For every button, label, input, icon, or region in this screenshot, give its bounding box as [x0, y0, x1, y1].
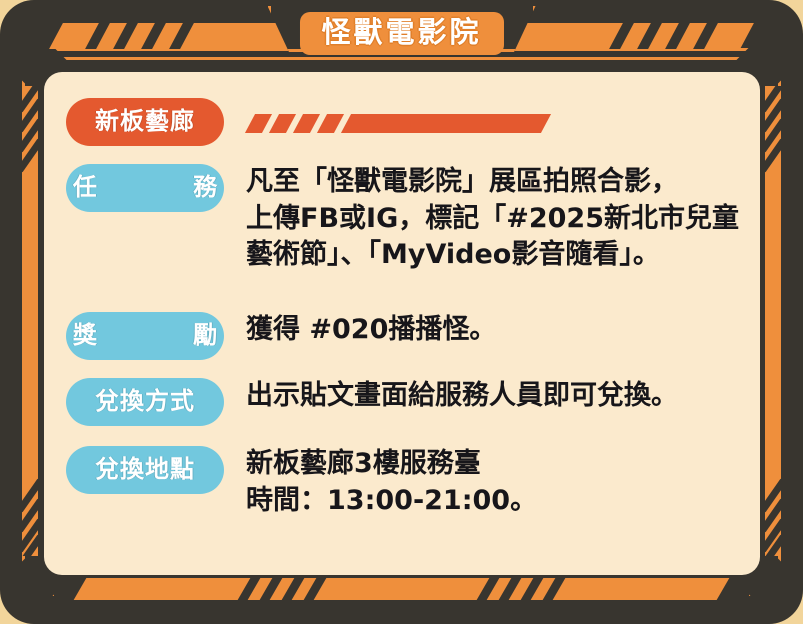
row-task-body: 凡至「怪獸電影院」展區拍照合影， 上傳FB或IG，標記「#2025新北市兒童 藝… [224, 164, 760, 274]
row-redeem-method-line: 出示貼文畫面給服務人員即可兌換。 [246, 378, 760, 415]
venue-tag: 新板藝廊 [66, 98, 224, 146]
row-redeem-location-label: 兌換地點 [66, 446, 224, 494]
row-reward: 獎 勵 獲得 #020播播怪。 [44, 312, 760, 360]
row-reward-line: 獲得 #020播播怪。 [246, 312, 760, 349]
poster: 怪獸電影院 新板藝廊 [0, 0, 803, 624]
row-redeem-location-body: 新板藝廊3樓服務臺 時間：13:00-21:00。 [224, 446, 760, 519]
content-card: 新板藝廊 任 務 凡至「怪獸電影院」展區拍照合影， 上傳FB或IG，標記「#20… [44, 72, 760, 575]
page-title-badge: 怪獸電影院 [299, 12, 503, 55]
venue-row: 新板藝廊 [44, 98, 760, 146]
side-rail-right [765, 86, 781, 556]
bottom-accent-bar [54, 578, 749, 600]
row-task-label: 任 務 [66, 164, 224, 212]
row-redeem-method-label: 兌換方式 [66, 378, 224, 426]
stripe-decoration [224, 98, 546, 133]
row-task-line: 上傳FB或IG，標記「#2025新北市兒童 [246, 201, 760, 238]
row-redeem-location: 兌換地點 新板藝廊3樓服務臺 時間：13:00-21:00。 [44, 446, 760, 519]
side-rail-left [22, 86, 38, 556]
row-redeem-method: 兌換方式 出示貼文畫面給服務人員即可兌換。 [44, 378, 760, 426]
row-task: 任 務 凡至「怪獸電影院」展區拍照合影， 上傳FB或IG，標記「#2025新北市… [44, 164, 760, 274]
row-redeem-location-line: 時間：13:00-21:00。 [246, 483, 760, 520]
row-reward-body: 獲得 #020播播怪。 [224, 312, 760, 349]
row-redeem-location-line: 新板藝廊3樓服務臺 [246, 446, 760, 483]
row-task-line: 藝術節」、「MyVideo影音隨看」。 [246, 237, 760, 274]
row-task-line: 凡至「怪獸電影院」展區拍照合影， [246, 164, 760, 201]
row-redeem-method-body: 出示貼文畫面給服務人員即可兌換。 [224, 378, 760, 415]
row-reward-label: 獎 勵 [66, 312, 224, 360]
page-title: 怪獸電影院 [321, 17, 481, 47]
